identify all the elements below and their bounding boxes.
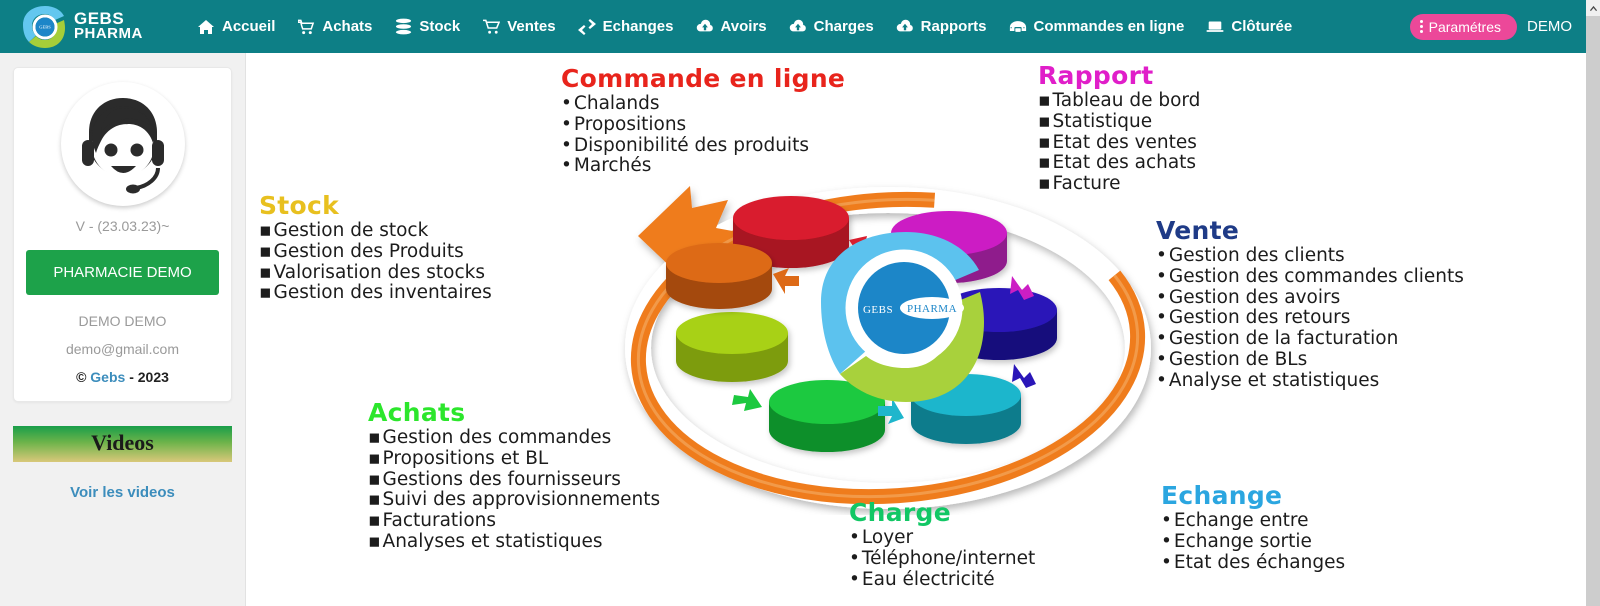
section-charge: Charge Loyer Téléphone/internet Eau élec… <box>849 500 1035 590</box>
list-item-label: Loyer <box>862 528 913 549</box>
brand-line-2: PHARMA <box>74 27 143 41</box>
list-item: Gestion des commandes clients <box>1156 267 1464 288</box>
list-item-label: Etat des ventes <box>1053 133 1197 154</box>
copyright-year: 2023 <box>138 369 169 385</box>
list-item: Marchés <box>561 156 845 177</box>
nav-item-label: Avoirs <box>721 18 767 35</box>
nav-item-echanges[interactable]: Echanges <box>567 12 685 42</box>
list-item-label: Disponibilité des produits <box>574 136 809 157</box>
list-item-label: Etat des achats <box>1053 153 1197 174</box>
bullet-icon <box>849 550 860 569</box>
cloud-upload-icon <box>789 18 807 36</box>
shopping-cart-icon <box>297 18 315 36</box>
brand-text: GEBS PHARMA <box>74 11 143 41</box>
nav-item-ventes[interactable]: Ventes <box>471 12 566 42</box>
list-item-label: Echange entre <box>1174 511 1309 532</box>
section-list: Chalands Propositions Disponibilité des … <box>561 94 845 177</box>
bullet-icon <box>1156 330 1167 349</box>
section-echange: Echange Echange entre Echange sortie Eta… <box>1161 483 1345 573</box>
section-title: Echange <box>1161 483 1345 509</box>
list-item: Gestion de la facturation <box>1156 329 1464 350</box>
section-list: Gestion des commandes Propositions et BL… <box>368 428 660 552</box>
main-content: GEBS PHARMA Commande en ligne Chalands P… <box>246 53 1586 606</box>
bullet-icon <box>1038 134 1051 153</box>
list-item-label: Gestion des avoirs <box>1169 288 1340 309</box>
nav-item-avoirs[interactable]: Avoirs <box>685 12 778 42</box>
list-item-label: Gestion des commandes clients <box>1169 267 1464 288</box>
scrollbar-thumb[interactable] <box>1586 16 1600 166</box>
section-achats: Achats Gestion des commandes Proposition… <box>368 400 660 553</box>
app-root: GEBS GEBS PHARMA Accueil Achats <box>0 0 1600 606</box>
list-item-label: Téléphone/internet <box>862 549 1035 570</box>
navbar-right: Paramétres DEMO <box>1410 0 1572 53</box>
videos-panel: Videos Voir les videos <box>13 426 232 501</box>
section-list: Tableau de bord Statistique Etat des ven… <box>1038 91 1200 195</box>
copyright-brand-link[interactable]: Gebs <box>90 369 125 385</box>
bullet-icon <box>1038 92 1051 111</box>
list-item-label: Analyses et statistiques <box>383 532 603 553</box>
section-commande-en-ligne: Commande en ligne Chalands Propositions … <box>561 66 845 177</box>
bullet-icon <box>561 157 572 176</box>
list-item: Etat des achats <box>1038 153 1200 174</box>
list-item-label: Gestion des clients <box>1169 246 1345 267</box>
list-item: Suivi des approvisionnements <box>368 490 660 511</box>
bullet-icon <box>1156 247 1167 266</box>
list-item-label: Statistique <box>1053 112 1153 133</box>
bullet-icon <box>1156 268 1167 287</box>
list-item-label: Gestion de stock <box>274 221 429 242</box>
bullet-icon <box>561 116 572 135</box>
bullet-icon <box>1038 154 1051 173</box>
list-item: Propositions et BL <box>368 449 660 470</box>
videos-panel-header: Videos <box>13 426 232 462</box>
list-item-label: Propositions <box>574 115 686 136</box>
list-item-label: Etat des échanges <box>1174 553 1345 574</box>
bullet-icon <box>368 429 381 448</box>
bullet-icon <box>1038 113 1051 132</box>
svg-text:GEBS: GEBS <box>39 24 51 29</box>
nav-item-label: Commandes en ligne <box>1034 18 1185 35</box>
left-sidebar: V - (23.03.23)~ PHARMACIE DEMO DEMO DEMO… <box>0 53 246 606</box>
list-item: Gestion des clients <box>1156 246 1464 267</box>
nav-item-commandes-en-ligne[interactable]: Commandes en ligne <box>998 12 1196 42</box>
laptop-icon <box>1206 18 1224 36</box>
section-list: Loyer Téléphone/internet Eau électricité <box>849 528 1035 590</box>
cloud-upload-icon <box>896 18 914 36</box>
nav-item-stock[interactable]: Stock <box>383 12 471 42</box>
vertical-dots-icon <box>1420 20 1423 33</box>
settings-button[interactable]: Paramétres <box>1410 14 1517 40</box>
list-item: Analyses et statistiques <box>368 532 660 553</box>
list-item: Analyse et statistiques <box>1156 371 1464 392</box>
nav-item-label: Stock <box>419 18 460 35</box>
svg-text:PHARMA: PHARMA <box>907 303 957 315</box>
bullet-icon <box>259 243 272 262</box>
section-title: Charge <box>849 500 1035 526</box>
settings-button-label: Paramétres <box>1429 19 1501 35</box>
version-label: V - (23.03.23)~ <box>26 218 219 234</box>
svg-text:GEBS: GEBS <box>863 304 893 316</box>
section-title: Commande en ligne <box>561 66 845 92</box>
nav-item-label: Achats <box>322 18 372 35</box>
bullet-icon <box>259 284 272 303</box>
bullet-icon <box>368 533 381 552</box>
user-name: DEMO DEMO <box>26 313 219 329</box>
section-title: Stock <box>259 193 492 219</box>
nav-item-label: Ventes <box>507 18 555 35</box>
cart-icon <box>482 18 500 36</box>
list-item-label: Gestion de la facturation <box>1169 329 1398 350</box>
list-item: Eau électricité <box>849 570 1035 591</box>
gebs-pharma-cycle-diagram: GEBS PHARMA <box>616 170 1161 515</box>
bullet-icon <box>368 471 381 490</box>
user-label[interactable]: DEMO <box>1527 18 1572 35</box>
list-item-label: Chalands <box>574 94 660 115</box>
bullet-icon <box>1156 351 1167 370</box>
list-item-label: Echange sortie <box>1174 532 1312 553</box>
nav-item-accueil[interactable]: Accueil <box>186 12 286 42</box>
bullet-icon <box>849 529 860 548</box>
gebs-logo-icon: GEBS <box>18 5 70 49</box>
list-item: Gestion de stock <box>259 221 492 242</box>
nav-item-label: Echanges <box>603 18 674 35</box>
copyright-line: © Gebs - 2023 <box>26 369 219 385</box>
list-item: Valorisation des stocks <box>259 263 492 284</box>
list-item: Etat des échanges <box>1161 553 1345 574</box>
section-title: Achats <box>368 400 660 426</box>
section-list: Gestion des clients Gestion des commande… <box>1156 246 1464 391</box>
nav-item-cloturee[interactable]: Clôturée <box>1195 12 1303 42</box>
profile-card: V - (23.03.23)~ PHARMACIE DEMO DEMO DEMO… <box>13 67 232 402</box>
list-item-label: Suivi des approvisionnements <box>383 490 661 511</box>
list-item: Echange sortie <box>1161 532 1345 553</box>
bullet-icon <box>368 450 381 469</box>
headset-operator-avatar <box>61 82 185 206</box>
nav-item-label: Charges <box>814 18 874 35</box>
database-icon <box>394 18 412 36</box>
bullet-icon <box>1156 309 1167 328</box>
nav-item-label: Clôturée <box>1231 18 1292 35</box>
list-item: Gestion des retours <box>1156 308 1464 329</box>
bullet-icon <box>1156 372 1167 391</box>
list-item: Loyer <box>849 528 1035 549</box>
list-item-label: Gestion de BLs <box>1169 350 1307 371</box>
list-item: Gestion des avoirs <box>1156 288 1464 309</box>
bullet-icon <box>259 264 272 283</box>
list-item: Etat des ventes <box>1038 133 1200 154</box>
list-item-label: Analyse et statistiques <box>1169 371 1379 392</box>
bullet-icon <box>259 222 272 241</box>
list-item-label: Valorisation des stocks <box>274 263 485 284</box>
list-item: Propositions <box>561 115 845 136</box>
bullet-icon <box>1161 512 1172 531</box>
cloud-upload-icon <box>696 18 714 36</box>
list-item: Statistique <box>1038 112 1200 133</box>
copyright-separator: - <box>129 369 134 385</box>
list-item-label: Tableau de bord <box>1053 91 1201 112</box>
section-title: Rapport <box>1038 63 1200 89</box>
list-item-label: Gestion des inventaires <box>274 283 492 304</box>
nav-item-achats[interactable]: Achats <box>286 12 383 42</box>
top-navbar: GEBS GEBS PHARMA Accueil Achats <box>0 0 1586 53</box>
list-item: Gestion des Produits <box>259 242 492 263</box>
list-item-label: Gestions des fournisseurs <box>383 470 621 491</box>
bullet-icon <box>1156 289 1167 308</box>
section-list: Gestion de stock Gestion des Produits Va… <box>259 221 492 304</box>
page-scrollbar[interactable] <box>1586 0 1600 606</box>
nav-item-charges[interactable]: Charges <box>778 12 885 42</box>
list-item-label: Facturations <box>383 511 496 532</box>
nav-item-label: Rapports <box>921 18 987 35</box>
bullet-icon <box>368 512 381 531</box>
copyright-symbol: © <box>76 369 86 385</box>
section-stock: Stock Gestion de stock Gestion des Produ… <box>259 193 492 304</box>
list-item: Gestion de BLs <box>1156 350 1464 371</box>
user-email: demo@gmail.com <box>26 341 219 357</box>
list-item: Chalands <box>561 94 845 115</box>
list-item-label: Gestion des commandes <box>383 428 612 449</box>
list-item: Gestion des inventaires <box>259 283 492 304</box>
section-rapport: Rapport Tableau de bord Statistique Etat… <box>1038 63 1200 195</box>
nav-item-label: Accueil <box>222 18 275 35</box>
list-item: Facture <box>1038 174 1200 195</box>
list-item-label: Marchés <box>574 156 651 177</box>
bullet-icon <box>368 491 381 510</box>
list-item-label: Facture <box>1053 174 1121 195</box>
home-icon <box>197 18 215 36</box>
list-item-label: Gestion des Produits <box>274 242 464 263</box>
list-item-label: Eau électricité <box>862 570 995 591</box>
pharmacy-button[interactable]: PHARMACIE DEMO <box>26 250 219 295</box>
phone-icon <box>1009 18 1027 36</box>
list-item: Disponibilité des produits <box>561 136 845 157</box>
bullet-icon <box>1161 533 1172 552</box>
exchange-arrows-icon <box>578 18 596 36</box>
list-item: Echange entre <box>1161 511 1345 532</box>
bullet-icon <box>561 95 572 114</box>
list-item: Tableau de bord <box>1038 91 1200 112</box>
section-list: Echange entre Echange sortie Etat des éc… <box>1161 511 1345 573</box>
chevron-up-icon[interactable] <box>1586 0 1600 16</box>
bullet-icon <box>561 137 572 156</box>
list-item: Gestions des fournisseurs <box>368 470 660 491</box>
list-item: Facturations <box>368 511 660 532</box>
list-item-label: Propositions et BL <box>383 449 549 470</box>
brand-logo-block[interactable]: GEBS GEBS PHARMA <box>18 5 168 49</box>
list-item: Téléphone/internet <box>849 549 1035 570</box>
section-vente: Vente Gestion des clients Gestion des co… <box>1156 218 1464 391</box>
bullet-icon <box>849 571 860 590</box>
bullet-icon <box>1161 554 1172 573</box>
nav-items: Accueil Achats Stock Ventes <box>186 12 1303 42</box>
list-item: Gestion des commandes <box>368 428 660 449</box>
bullet-icon <box>1038 175 1051 194</box>
nav-item-rapports[interactable]: Rapports <box>885 12 998 42</box>
list-item-label: Gestion des retours <box>1169 308 1350 329</box>
videos-link[interactable]: Voir les videos <box>13 484 232 501</box>
section-title: Vente <box>1156 218 1464 244</box>
